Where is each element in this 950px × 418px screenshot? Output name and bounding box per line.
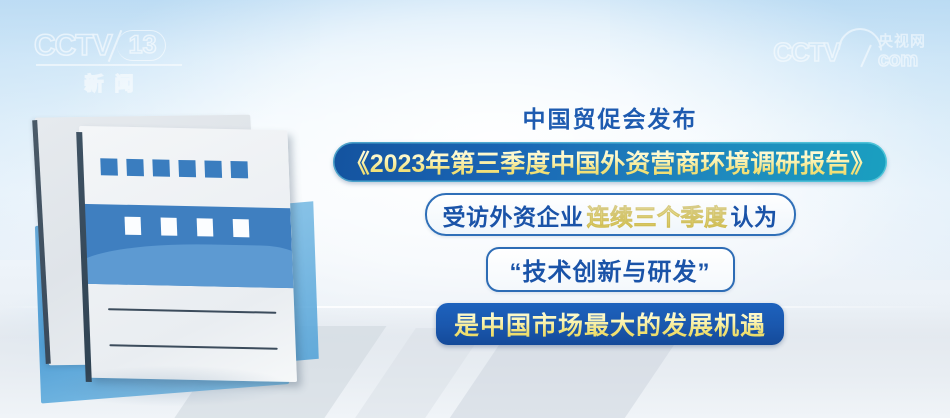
document-sheet-front: [79, 126, 297, 382]
logo-underline: [36, 64, 182, 66]
document-band-square: [125, 217, 142, 235]
document-band-square: [161, 217, 178, 235]
survey-statement-pill: 受访外资企业 连续三个季度 认为: [425, 193, 796, 236]
document-square: [230, 161, 248, 178]
document-band-square: [233, 219, 250, 237]
watermark-right-group: 央视网 com: [878, 34, 926, 70]
conclusion-pill: 是中国市场最大的发展机遇: [436, 303, 784, 345]
headline-line-3: 受访外资企业 连续三个季度 认为: [330, 193, 890, 236]
survey-statement-part2: 认为: [731, 198, 778, 232]
document-square-row: [100, 158, 248, 178]
document-square: [100, 158, 118, 175]
channel-number-badge: 13: [117, 30, 167, 61]
document-square: [152, 159, 170, 176]
watermark-arc-icon: [836, 32, 882, 72]
document-square: [204, 160, 222, 177]
headline-line-1: 中国贸促会发布: [330, 100, 890, 134]
document-square: [126, 159, 144, 176]
document-text-line: [108, 308, 276, 314]
arc-shape: [829, 19, 891, 81]
headline-line-1-text: 中国贸促会发布: [523, 100, 698, 134]
headline-line-5: 是中国市场最大的发展机遇: [330, 303, 890, 345]
watermark-cctv-text: CCTV: [773, 39, 840, 65]
document-blue-band: [82, 204, 293, 288]
cctv-com-watermark: CCTV 央视网 com: [773, 32, 926, 72]
headline-line-2: 《2023年第三季度中国外资营商环境调研报告》: [330, 142, 890, 182]
document-drop-shadow: [58, 366, 288, 406]
survey-statement-highlight: 连续三个季度: [587, 198, 728, 232]
channel-number: 13: [129, 31, 157, 59]
quoted-topic-pill: “技术创新与研发”: [486, 247, 735, 292]
headline-block: 中国贸促会发布 《2023年第三季度中国外资营商环境调研报告》 受访外资企业 连…: [330, 100, 890, 345]
cctv-wordmark: CCTV: [34, 31, 112, 61]
document-band-lower: [82, 242, 293, 289]
survey-statement-part1: 受访外资企业: [443, 198, 584, 232]
conclusion-text: 是中国市场最大的发展机遇: [454, 306, 766, 342]
watermark-chinese-text: 央视网: [878, 34, 926, 50]
cctv13-logo: CCTV 13 新闻: [34, 27, 184, 89]
report-document-illustration: [36, 116, 336, 404]
document-square: [178, 160, 196, 177]
quoted-topic-text: “技术创新与研发”: [510, 252, 711, 287]
report-title-text: 《2023年第三季度中国外资营商环境调研报告》: [345, 144, 876, 180]
headline-line-4: “技术创新与研发”: [330, 247, 890, 292]
broadcast-news-graphic: CCTV 13 新闻 CCTV 央视网 com: [0, 0, 950, 418]
watermark-domain-text: com: [878, 50, 918, 70]
report-title-pill: 《2023年第三季度中国外资营商环境调研报告》: [333, 142, 888, 182]
cctv13-logo-row: CCTV 13: [34, 27, 184, 61]
channel-name: 新闻: [34, 69, 184, 96]
document-text-line: [109, 344, 277, 350]
document-band-square: [197, 218, 214, 236]
